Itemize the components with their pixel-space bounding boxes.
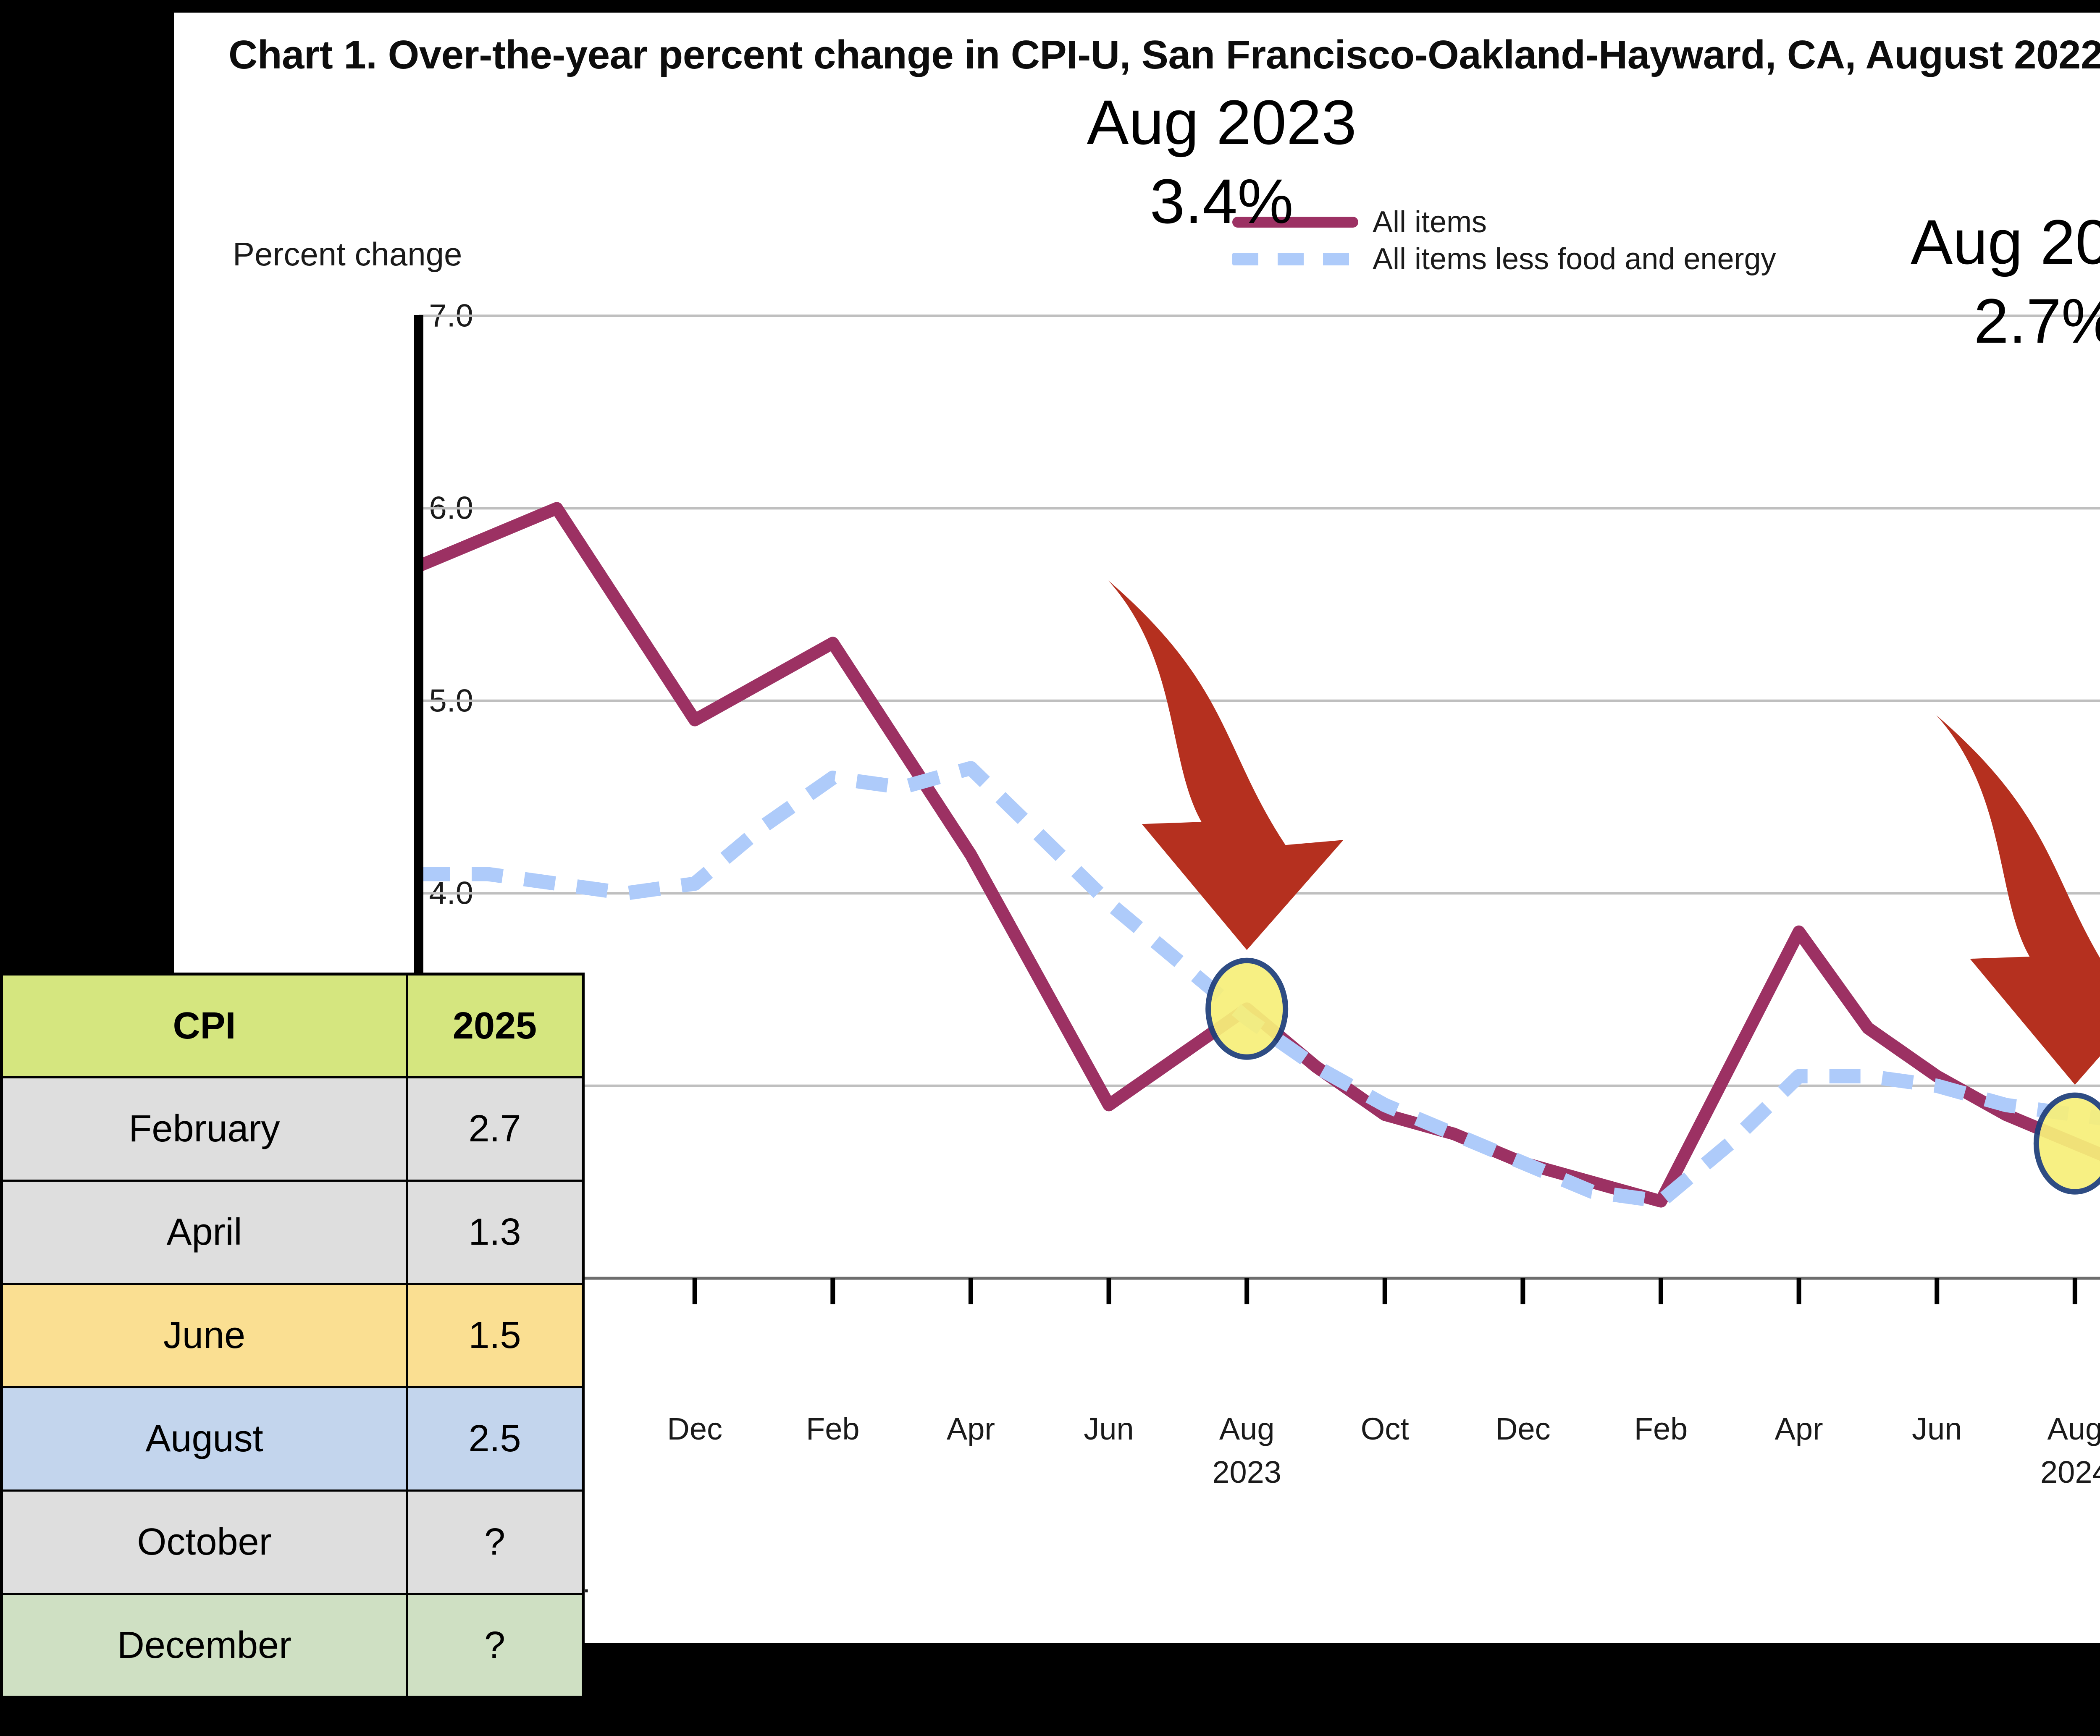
x-tick-month: Aug bbox=[2047, 1411, 2100, 1446]
x-tick-month: Apr bbox=[1775, 1411, 1823, 1446]
cpi-overlay-table: CPI 2025 February2.7April1.3June1.5Augus… bbox=[0, 973, 585, 1699]
series-line bbox=[419, 508, 2100, 1400]
table-cell-value: ? bbox=[407, 1594, 583, 1697]
x-axis-tick-label: Dec bbox=[667, 1411, 722, 1447]
table-header-year: 2025 bbox=[407, 974, 583, 1078]
legend-swatch-dashed-icon bbox=[1232, 253, 1358, 265]
x-tick-month: Dec bbox=[1495, 1411, 1551, 1446]
x-tick-month: Aug bbox=[1219, 1411, 1275, 1446]
callout-value: 3.4% bbox=[928, 167, 1516, 235]
table-cell-value: ? bbox=[407, 1491, 583, 1594]
callout-aug-2024: Aug 2024 2.7% bbox=[1751, 208, 2100, 355]
table-cell-value: 2.7 bbox=[407, 1078, 583, 1181]
table-row: June1.5 bbox=[2, 1284, 583, 1387]
x-axis-tick-label: Oct bbox=[1361, 1411, 1409, 1447]
table-cell-month: August bbox=[2, 1387, 407, 1491]
x-axis-tick-label: Feb bbox=[806, 1411, 860, 1447]
callout-date: Aug 2024 bbox=[1751, 208, 2100, 276]
callout-value: 2.7% bbox=[1751, 287, 2100, 355]
x-tick-year: 2023 bbox=[1212, 1454, 1281, 1490]
table-row: April1.3 bbox=[2, 1181, 583, 1284]
x-axis-tick-label: Apr bbox=[947, 1411, 995, 1447]
x-axis-tick-label: Dec bbox=[1495, 1411, 1551, 1447]
y-axis-title: Percent change bbox=[233, 235, 462, 273]
highlight-marker bbox=[1208, 960, 1286, 1057]
data-series bbox=[419, 508, 2100, 1400]
highlight-marker bbox=[2036, 1095, 2100, 1192]
table-header-cpi: CPI bbox=[2, 974, 407, 1078]
chart-canvas bbox=[328, 308, 2100, 1400]
callout-aug-2023: Aug 2023 3.4% bbox=[928, 88, 1516, 235]
down-arrow-icon bbox=[1108, 580, 1344, 950]
x-axis-labels: DecFebAprJunAug2023OctDecFebAprJunAug202… bbox=[328, 1411, 2100, 1550]
x-axis-tick-label: Feb bbox=[1634, 1411, 1688, 1447]
x-tick-month: Feb bbox=[1634, 1411, 1688, 1446]
x-tick-year: 2024 bbox=[2040, 1454, 2100, 1490]
x-tick-month: Apr bbox=[947, 1411, 995, 1446]
table-cell-month: April bbox=[2, 1181, 407, 1284]
x-axis-tick-label: Apr bbox=[1775, 1411, 1823, 1447]
x-tick-month: Jun bbox=[1084, 1411, 1134, 1446]
table-header-row: CPI 2025 bbox=[2, 974, 583, 1078]
table-row: October? bbox=[2, 1491, 583, 1594]
table-cell-month: February bbox=[2, 1078, 407, 1181]
legend-label: All items less food and energy bbox=[1373, 242, 1776, 276]
table-cell-month: October bbox=[2, 1491, 407, 1594]
table-cell-value: 2.5 bbox=[407, 1387, 583, 1491]
table-row: August2.5 bbox=[2, 1387, 583, 1491]
x-axis-tick-label: Aug2023 bbox=[1212, 1411, 1281, 1490]
x-axis-tick-label: Aug2024 bbox=[2040, 1411, 2100, 1490]
x-tick-month: Jun bbox=[1912, 1411, 1962, 1446]
x-axis-tick-label: Jun bbox=[1912, 1411, 1962, 1447]
table-row: December? bbox=[2, 1594, 583, 1697]
down-arrow-icon bbox=[1936, 715, 2100, 1085]
table-cell-value: 1.5 bbox=[407, 1284, 583, 1387]
table-row: February2.7 bbox=[2, 1078, 583, 1181]
x-axis-tick-label: Jun bbox=[1084, 1411, 1134, 1447]
x-tick-month: Oct bbox=[1361, 1411, 1409, 1446]
x-tick-month: Feb bbox=[806, 1411, 860, 1446]
x-tick-month: Dec bbox=[667, 1411, 722, 1446]
table-cell-month: December bbox=[2, 1594, 407, 1697]
plot-area: 7.06.05.04.03.0 bbox=[328, 308, 2100, 1400]
table-cell-value: 1.3 bbox=[407, 1181, 583, 1284]
table-cell-month: June bbox=[2, 1284, 407, 1387]
callout-date: Aug 2023 bbox=[928, 88, 1516, 156]
page-title: Chart 1. Over-the-year percent change in… bbox=[228, 29, 2100, 81]
